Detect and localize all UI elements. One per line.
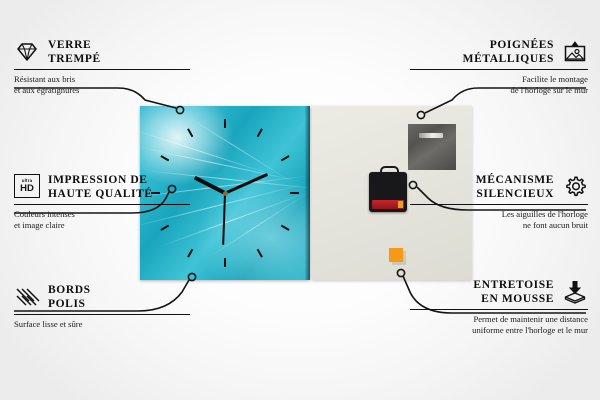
- feature-metal-handles: POIGNÉES MÉTALLIQUES Facilite le montage…: [410, 38, 588, 96]
- feature-title-line1: ENTRETOISE: [473, 279, 554, 291]
- clock-center-cap: [223, 191, 228, 196]
- feature-desc-line1: Permet de maintenir une distance: [473, 314, 588, 324]
- feature-polished-edges: BORDS POLIS Surface lisse et sûre: [14, 283, 190, 330]
- clock-mechanism: [369, 172, 407, 212]
- feature-title-line1: BORDS: [48, 284, 91, 296]
- feature-title: MÉCANISME SILENCIEUX: [476, 173, 554, 201]
- feature-title: VERRE TREMPÉ: [48, 38, 101, 66]
- feature-title-line2: MÉTALLIQUES: [463, 53, 554, 65]
- feature-divider: [14, 69, 190, 70]
- feature-divider: [14, 204, 190, 205]
- feature-desc-line2: uniforme entre l'horloge et le mur: [472, 325, 588, 335]
- feature-desc-line1: Les aiguilles de l'horloge: [502, 209, 588, 219]
- feature-title-line1: POIGNÉES: [490, 39, 554, 51]
- clock-tick: [257, 128, 263, 137]
- feature-title-line1: VERRE: [48, 39, 91, 51]
- clock-minute-hand: [224, 173, 267, 194]
- feature-description: Surface lisse et sûre: [14, 319, 190, 330]
- clock-second-hand: [222, 192, 225, 244]
- clock-tick: [257, 249, 263, 258]
- feature-description: Facilite le montage de l'horloge sur le …: [410, 74, 588, 96]
- feature-title: BORDS POLIS: [48, 283, 91, 311]
- ultra-hd-icon: ultra HD: [14, 174, 40, 200]
- feature-description: Permet de maintenir une distance uniform…: [410, 314, 588, 336]
- feature-title-line1: MÉCANISME: [476, 174, 554, 186]
- feature-title-line2: POLIS: [48, 298, 86, 310]
- feature-divider: [410, 204, 588, 205]
- feature-desc-line1: Couleurs intenses: [14, 209, 75, 219]
- infographic-canvas: VERRE TREMPÉ Résistant aux bris et aux é…: [0, 0, 600, 400]
- feature-header: MÉCANISME SILENCIEUX: [410, 173, 588, 201]
- clock-tick: [224, 119, 226, 128]
- feature-desc-line1: Résistant aux bris: [14, 74, 75, 84]
- metal-hanger-plate: [408, 124, 456, 170]
- feature-desc-line2: ne font aucun bruit: [523, 220, 588, 230]
- clock-tick: [160, 155, 169, 161]
- clock-tick: [187, 249, 193, 258]
- feature-header: BORDS POLIS: [14, 283, 190, 311]
- mechanism-hook: [380, 166, 399, 177]
- feature-title-line1: IMPRESSION DE: [48, 174, 148, 186]
- battery-terminal: [398, 201, 403, 208]
- feature-title-line2: SILENCIEUX: [476, 188, 554, 200]
- clock-hour-hand: [194, 176, 226, 195]
- battery: [372, 200, 404, 209]
- feature-divider: [14, 314, 190, 315]
- clock-tick: [290, 192, 299, 194]
- clock-tick: [187, 128, 193, 137]
- feature-desc-line1: Facilite le montage: [522, 74, 588, 84]
- feature-header: ultra HD IMPRESSION DE HAUTE QUALITÉ: [14, 173, 190, 201]
- feature-desc-line2: de l'horloge sur le mur: [511, 85, 588, 95]
- clock-tick: [224, 258, 226, 267]
- feature-header: ENTRETOISE EN MOUSSE: [410, 278, 588, 306]
- feature-desc-line2: et image claire: [14, 220, 65, 230]
- feature-title-line2: EN MOUSSE: [481, 293, 554, 305]
- feature-title: ENTRETOISE EN MOUSSE: [473, 278, 554, 306]
- feature-description: Résistant aux bris et aux égratignures: [14, 74, 190, 96]
- feature-description: Les aiguilles de l'horloge ne font aucun…: [410, 209, 588, 231]
- diamond-icon: [14, 39, 40, 65]
- framed-picture-icon: [562, 39, 588, 65]
- feature-divider: [410, 69, 588, 70]
- feature-description: Couleurs intenses et image claire: [14, 209, 190, 231]
- feature-title: IMPRESSION DE HAUTE QUALITÉ: [48, 173, 153, 201]
- feature-desc-line2: et aux égratignures: [14, 85, 79, 95]
- feature-divider: [410, 309, 588, 310]
- feature-header: VERRE TREMPÉ: [14, 38, 190, 66]
- polished-edge-icon: [14, 284, 40, 310]
- press-down-layers-icon: [562, 279, 588, 305]
- foam-spacer: [389, 248, 403, 262]
- feature-print-quality: ultra HD IMPRESSION DE HAUTE QUALITÉ Cou…: [14, 173, 190, 231]
- feature-title: POIGNÉES MÉTALLIQUES: [463, 38, 554, 66]
- feature-title-line2: HAUTE QUALITÉ: [48, 188, 153, 200]
- gear-icon: [562, 174, 588, 200]
- feature-tempered-glass: VERRE TREMPÉ Résistant aux bris et aux é…: [14, 38, 190, 96]
- ultra-hd-icon-big-text: HD: [20, 184, 34, 194]
- hanger-slot: [419, 133, 443, 138]
- feature-header: POIGNÉES MÉTALLIQUES: [410, 38, 588, 66]
- feature-silent-mechanism: MÉCANISME SILENCIEUX Les aiguilles de l'…: [410, 173, 588, 231]
- clock-tick: [281, 155, 290, 161]
- feature-foam-spacer: ENTRETOISE EN MOUSSE Permet de maintenir…: [410, 278, 588, 336]
- clock-tick: [281, 225, 290, 231]
- feature-desc-line1: Surface lisse et sûre: [14, 319, 83, 329]
- feature-title-line2: TREMPÉ: [48, 53, 101, 65]
